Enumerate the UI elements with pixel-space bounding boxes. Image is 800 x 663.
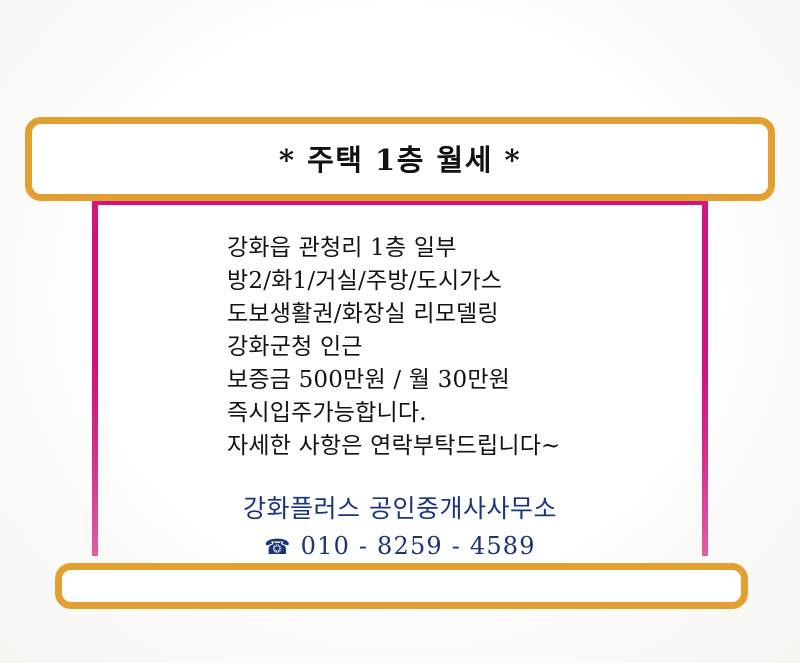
page-title: * 주택 1층 월세 * [25, 117, 775, 201]
agency-name: 강화플러스 공인중개사사무소 [92, 492, 708, 525]
listing-line-availability: 즉시입주가능합니다. [227, 397, 647, 430]
orange-banner-bottom [55, 563, 748, 609]
listing-line-contact-note: 자세한 사항은 연락부탁드립니다~ [227, 430, 647, 463]
listing-line-landmark: 강화군청 인근 [227, 331, 647, 364]
listing-line-rooms: 방2/화1/거실/주방/도시가스 [227, 265, 647, 298]
telephone-icon: ☎ [264, 537, 291, 558]
listing-details-block: 강화읍 관청리 1층 일부 방2/화1/거실/주방/도시가스 도보생활권/화장실… [227, 232, 647, 463]
listing-line-features: 도보생활권/화장실 리모델링 [227, 298, 647, 331]
phone-number[interactable]: 010 - 8259 - 4589 [301, 531, 536, 561]
listing-line-location: 강화읍 관청리 1층 일부 [227, 232, 647, 265]
contact-block: 강화플러스 공인중개사사무소 ☎ 010 - 8259 - 4589 [92, 492, 708, 561]
rental-flyer: * 주택 1층 월세 * 강화읍 관청리 1층 일부 방2/화1/거실/주방/도… [0, 0, 800, 663]
phone-row[interactable]: ☎ 010 - 8259 - 4589 [92, 531, 708, 561]
listing-line-price: 보증금 500만원 / 월 30만원 [227, 364, 647, 397]
